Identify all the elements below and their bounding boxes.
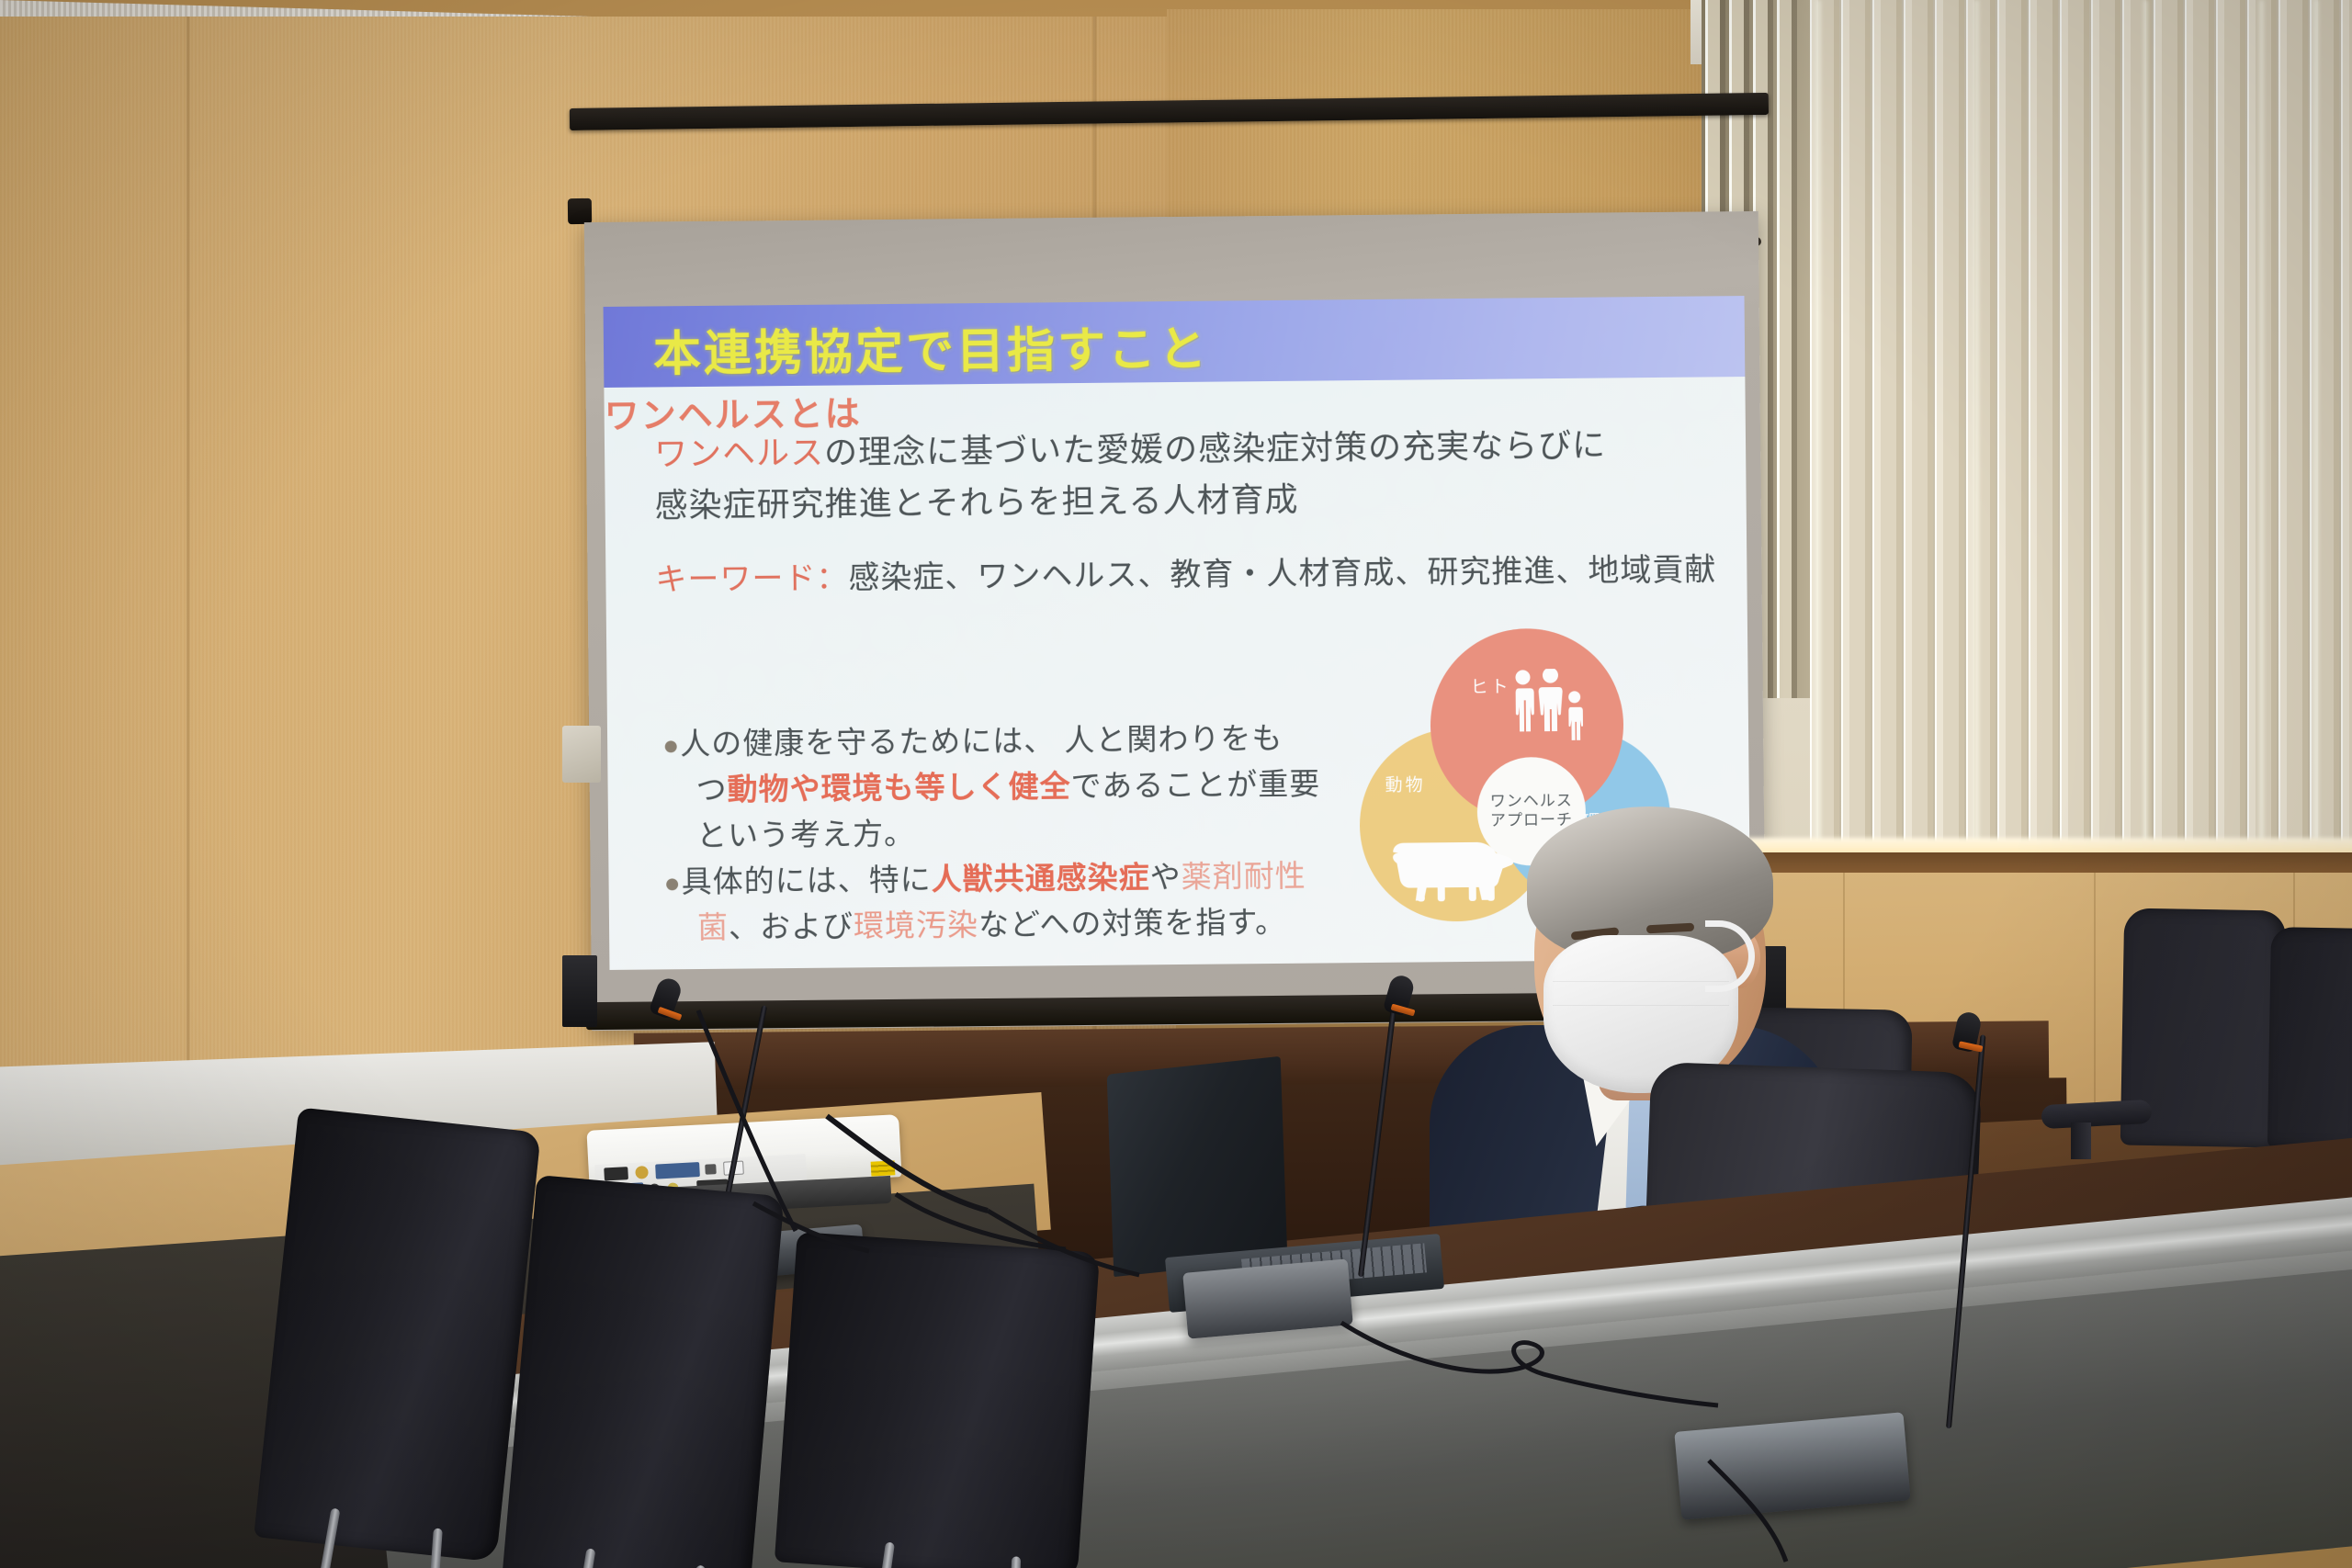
slide-title: 本連携協定で目指すこと: [653, 310, 1210, 385]
slide-keywords-value: 感染症、ワンヘルス、教育・人材育成、研究推進、地域貢献: [848, 552, 1716, 595]
bullet-2-pink-1: 薬剤耐性: [1181, 859, 1306, 894]
bullet-1-pre: つ: [695, 773, 727, 807]
bullet-1-text-1: 人の健康を守るためには、 人と関わりをも: [680, 721, 1283, 761]
bullet-1-highlight: 動物や環境も等しく健全: [727, 769, 1070, 807]
bullet-2-pre: 具体的には、特に: [682, 863, 932, 899]
slide-aim-rest: の理念に基づいた愛媛の感染症対策の充実ならびに: [824, 426, 1606, 471]
wall-speaker-left: [562, 955, 597, 1027]
slide-bullet-1-line-2: つ動物や環境も等しく健全であることが重要: [695, 760, 1320, 810]
chair-base-stem: [2071, 1122, 2091, 1159]
slide-aim-line-1: ワンヘルスの理念に基づいた愛媛の感染症対策の充実ならびに: [654, 419, 1606, 476]
slide-title-band: 本連携協定で目指すこと: [604, 296, 1746, 388]
bullet-2-mid: や: [1149, 860, 1181, 894]
bullet-marker-icon: ●: [662, 730, 680, 761]
chair-far-right-2[interactable]: [2267, 927, 2352, 1149]
meeting-room-photo: 本連携協定で目指すこと ワンヘルスの理念に基づいた愛媛の感染症対策の充実ならびに…: [0, 0, 2352, 1568]
slide-keywords: キーワード：感染症、ワンヘルス、教育・人材育成、研究推進、地域貢献: [655, 544, 1716, 599]
venn-label-human: ヒト: [1470, 673, 1510, 698]
slide-aim-highlight: ワンヘルス: [654, 434, 824, 473]
bullet-2-mid-2: 、および: [729, 908, 854, 943]
slide-bullet-1-line-1: ●人の健康を守るためには、 人と関わりをも: [662, 714, 1283, 763]
chair-foreground-1[interactable]: [254, 1107, 541, 1562]
bullet-1-post: であることが重要: [1070, 767, 1320, 804]
bullet-2-pink-3: 環境汚染: [854, 908, 978, 942]
wall-control-plate[interactable]: [562, 726, 601, 783]
projector-label: [871, 1160, 896, 1176]
bullet-marker-icon-2: ●: [663, 868, 681, 898]
laptop-screen[interactable]: [1107, 1056, 1288, 1277]
vertical-blinds: [1702, 0, 2352, 909]
chair-foreground-3[interactable]: [775, 1232, 1100, 1568]
slide-bullet-2-line-2: 菌、および環境汚染などへの対策を指す。: [697, 897, 1286, 947]
bullet-2-pink-2: 菌: [697, 910, 729, 944]
bullet-2-post: などへの対策を指す。: [978, 905, 1286, 942]
slide-bullet-2-line-1: ●具体的には、特に人獣共通感染症や薬剤耐性: [663, 852, 1306, 902]
projection-screen-end-cap: [568, 198, 592, 224]
slide-keywords-label: キーワード：: [655, 560, 848, 597]
family-icon: [1509, 669, 1589, 741]
slide-aim-line-2: 感染症研究推進とそれらを担える人材育成: [654, 473, 1298, 527]
bullet-2-highlight: 人獣共通感染症: [932, 860, 1150, 896]
slide-bullet-1-line-3: という考え方。: [696, 809, 915, 855]
chair-foreground-2[interactable]: [502, 1175, 784, 1568]
